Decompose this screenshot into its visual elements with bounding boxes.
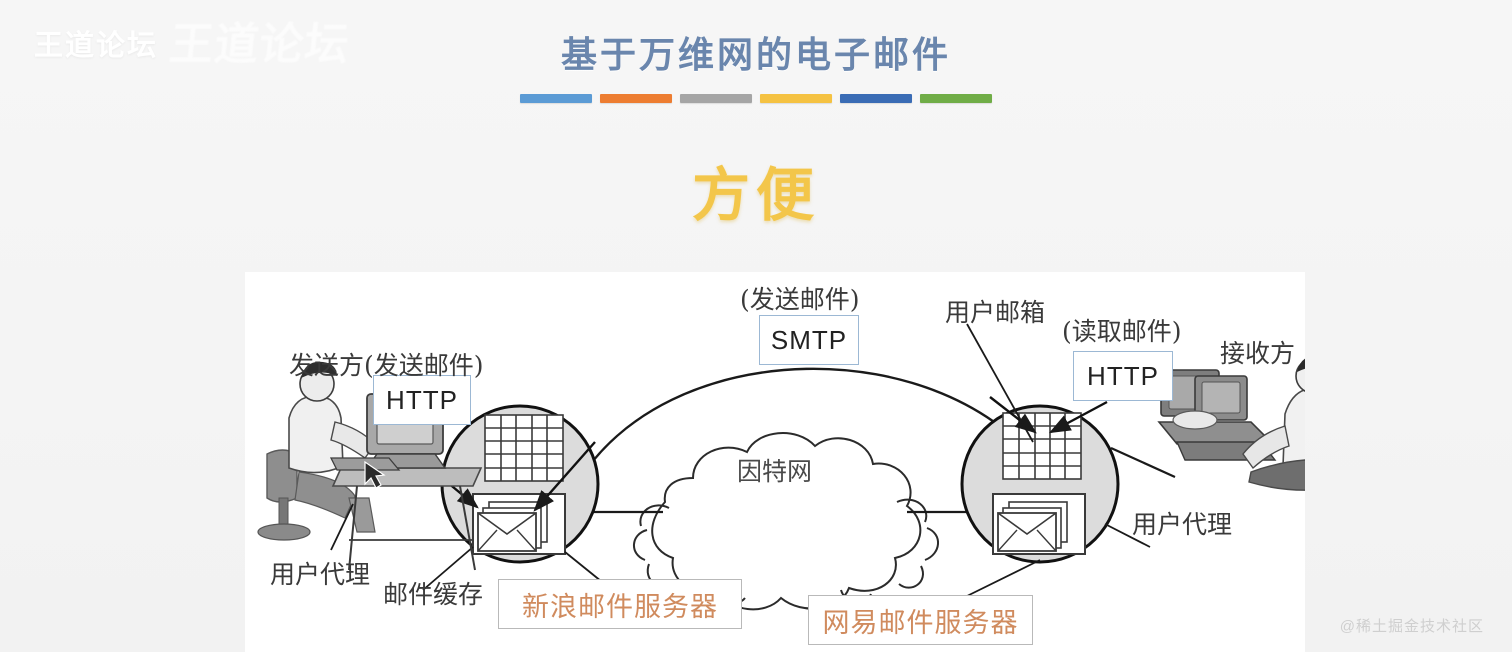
- protocol-box-smtp: SMTP: [759, 315, 859, 365]
- server-name-box-sina: 新浪邮件服务器: [498, 579, 742, 629]
- label-user-agent-left: 用户代理: [270, 555, 370, 591]
- watermark-bottom-right: @稀土掘金技术社区: [1340, 615, 1484, 636]
- label-user-agent-right: 用户代理: [1132, 505, 1232, 541]
- page-subtitle: 方便: [0, 148, 1512, 232]
- mail-cache-envelopes-left: [473, 494, 565, 554]
- rule-bar-4: [760, 94, 832, 103]
- rule-bar-6: [920, 94, 992, 103]
- receiver-user-illustration: [1159, 356, 1305, 490]
- rule-bar-5: [840, 94, 912, 103]
- rule-bar-3: [680, 94, 752, 103]
- label-user-mailbox: 用户邮箱: [945, 293, 1045, 329]
- label-mail-cache: 邮件缓存: [383, 575, 483, 611]
- rule-bar-2: [600, 94, 672, 103]
- protocol-box-http-receiver: HTTP: [1073, 351, 1173, 401]
- server-name-box-netease: 网易邮件服务器: [808, 595, 1033, 645]
- receiver-link: [1111, 448, 1175, 477]
- protocol-box-http-sender: HTTP: [373, 375, 471, 425]
- rule-bar-1: [520, 94, 592, 103]
- label-sender: 发送方(发送邮件): [289, 346, 484, 382]
- title-underline-bars: [520, 94, 992, 103]
- mail-cache-envelopes-right: [993, 494, 1085, 554]
- user-mailbox-grid-left: [485, 415, 563, 481]
- netease-leader-line: [965, 560, 1040, 597]
- slide-canvas: 王道论坛 王道论坛 @稀土掘金技术社区 基于万维网的电子邮件 方便: [0, 0, 1512, 652]
- label-read-mail: (读取邮件): [1062, 312, 1182, 348]
- label-internet-cloud: 因特网: [737, 452, 812, 488]
- page-title: 基于万维网的电子邮件: [0, 26, 1512, 78]
- label-send-mail: (发送邮件): [740, 280, 860, 316]
- email-architecture-diagram: HTTP SMTP HTTP 发送方(发送邮件) (发送邮件) 用户邮箱 (读取…: [245, 272, 1305, 652]
- label-receiver: 接收方: [1220, 334, 1295, 370]
